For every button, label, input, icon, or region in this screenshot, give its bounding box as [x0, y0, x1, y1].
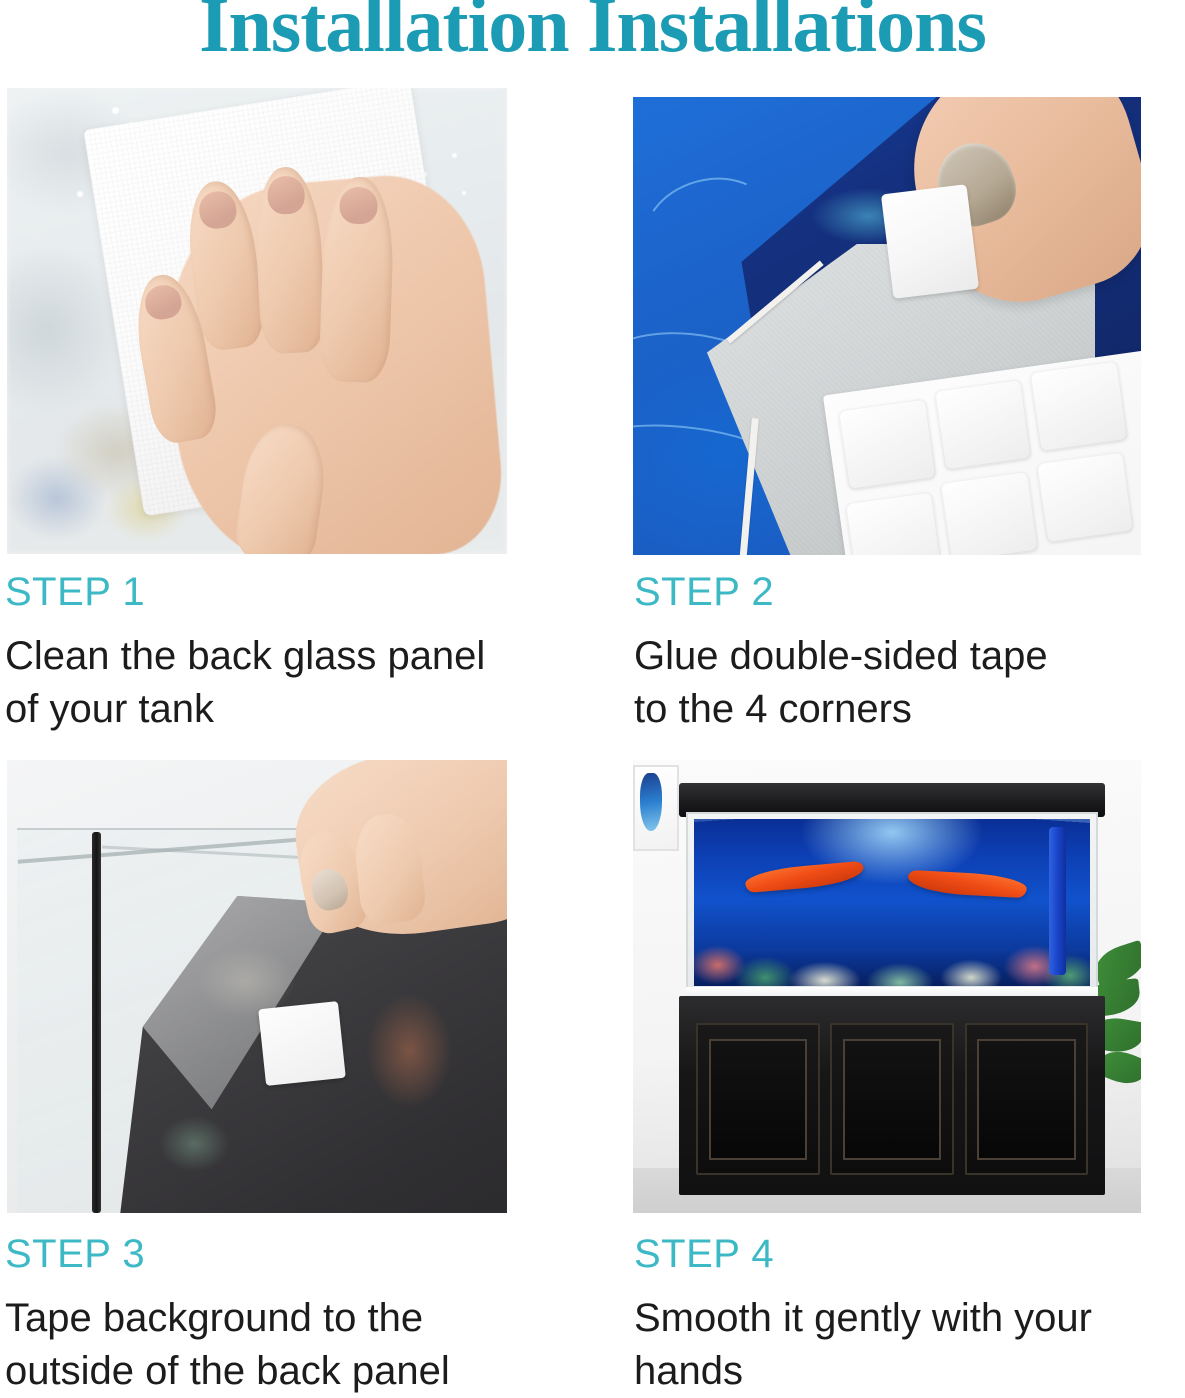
step-4-text: Smooth it gently with your hands — [634, 1292, 1092, 1398]
coral-reef-decor — [694, 916, 1090, 986]
step-4-photo — [633, 760, 1141, 1213]
wall-picture-frame — [633, 765, 679, 851]
adhesive-pad-applied — [881, 184, 980, 299]
step-1-label: STEP 1 — [5, 570, 145, 615]
blue-filter-tube — [1049, 827, 1067, 974]
step-1-photo — [7, 88, 507, 554]
tank-corner-edge — [92, 832, 101, 1213]
step-2-label: STEP 2 — [634, 570, 774, 615]
step-1-text: Clean the back glass panel of your tank — [5, 630, 485, 736]
page-title: Installation Installations — [0, 0, 1185, 70]
step-3-label: STEP 3 — [5, 1232, 145, 1277]
installation-steps-infographic: Installation Installations — [0, 0, 1185, 1398]
adhesive-pad — [258, 1001, 346, 1086]
cabinet-door-right[interactable] — [965, 1023, 1089, 1174]
cabinet-door-left[interactable] — [696, 1023, 820, 1174]
step-3-text: Tape background to the outside of the ba… — [5, 1292, 450, 1398]
step-2-photo — [633, 97, 1141, 555]
step-3-photo — [7, 760, 507, 1213]
cabinet-stand — [679, 996, 1106, 1195]
step-4-label: STEP 4 — [634, 1232, 774, 1277]
aquarium-water-with-background — [694, 819, 1090, 987]
step-2-text: Glue double-sided tape to the 4 corners — [634, 630, 1048, 736]
cabinet-door-center[interactable] — [830, 1023, 954, 1174]
